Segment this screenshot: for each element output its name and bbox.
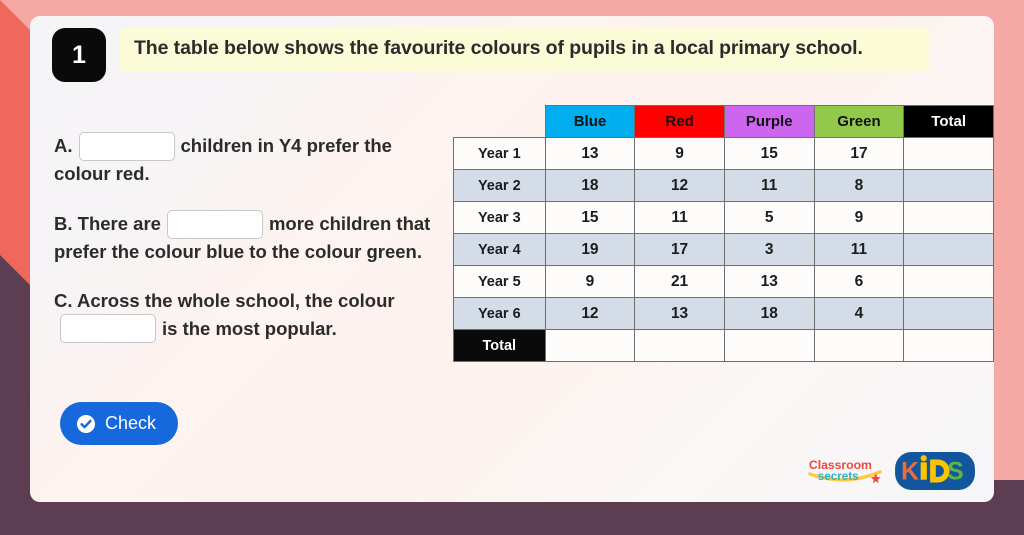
table-row: Year 3151159 — [454, 202, 994, 234]
table-row: Year 5921136 — [454, 266, 994, 298]
column-header-purple: Purple — [724, 106, 814, 138]
cell-year-2-red: 12 — [635, 170, 725, 202]
cell-year-3-total — [904, 202, 994, 234]
cell-year-6-total — [904, 298, 994, 330]
answer-input-a[interactable] — [79, 132, 175, 161]
column-header-total: Total — [904, 106, 994, 138]
table-row: Year 61213184 — [454, 298, 994, 330]
row-header-year-6: Year 6 — [454, 298, 546, 330]
row-header-year-4: Year 4 — [454, 234, 546, 266]
cell-year-6-green: 4 — [814, 298, 904, 330]
row-header-year-1: Year 1 — [454, 138, 546, 170]
table-row: Year 41917311 — [454, 234, 994, 266]
cell-total-total — [904, 330, 994, 362]
cell-year-1-total — [904, 138, 994, 170]
cell-total-red — [635, 330, 725, 362]
cell-year-2-purple: 11 — [724, 170, 814, 202]
kids-logo: K S — [894, 450, 976, 492]
cell-year-5-purple: 13 — [724, 266, 814, 298]
cell-year-4-purple: 3 — [724, 234, 814, 266]
cell-total-blue — [545, 330, 635, 362]
cell-total-green — [814, 330, 904, 362]
cell-year-3-purple: 5 — [724, 202, 814, 234]
cell-year-1-green: 17 — [814, 138, 904, 170]
question-c-suffix: is the most popular. — [162, 316, 337, 343]
favourite-colours-table: Blue Red Purple Green Total Year 1139151… — [453, 105, 994, 362]
question-c-prefix: C. Across the whole school, the colour — [54, 288, 395, 315]
question-a-prefix: A. — [54, 133, 73, 160]
question-number-badge: 1 — [52, 28, 106, 82]
check-button[interactable]: Check — [60, 402, 178, 445]
logo-group: Classroom secrets K S — [806, 450, 976, 492]
cell-year-2-total — [904, 170, 994, 202]
row-header-year-2: Year 2 — [454, 170, 546, 202]
cell-year-3-blue: 15 — [545, 202, 635, 234]
column-header-blue: Blue — [545, 106, 635, 138]
table-row: Year 11391517 — [454, 138, 994, 170]
svg-text:K: K — [901, 459, 919, 486]
cell-year-1-blue: 13 — [545, 138, 635, 170]
column-header-green: Green — [814, 106, 904, 138]
question-prompt-banner: The table below shows the favourite colo… — [120, 28, 930, 72]
cell-year-5-green: 6 — [814, 266, 904, 298]
question-b-prefix: B. There are — [54, 211, 161, 238]
cell-year-5-red: 21 — [635, 266, 725, 298]
cell-year-4-total — [904, 234, 994, 266]
svg-text:S: S — [947, 459, 963, 486]
cell-year-3-green: 9 — [814, 202, 904, 234]
cell-year-5-total — [904, 266, 994, 298]
cell-year-1-purple: 15 — [724, 138, 814, 170]
table-corner-cell — [454, 106, 546, 138]
cell-year-4-green: 11 — [814, 234, 904, 266]
row-header-year-3: Year 3 — [454, 202, 546, 234]
table-row: Total — [454, 330, 994, 362]
cell-year-3-red: 11 — [635, 202, 725, 234]
questions-column: A. children in Y4 prefer the colour red.… — [54, 132, 464, 363]
table-header-row: Blue Red Purple Green Total — [454, 106, 994, 138]
cell-total-purple — [724, 330, 814, 362]
table-row: Year 21812118 — [454, 170, 994, 202]
row-header-total: Total — [454, 330, 546, 362]
cell-year-2-blue: 18 — [545, 170, 635, 202]
question-b-suffix: more children that — [269, 211, 430, 238]
check-button-label: Check — [105, 413, 156, 434]
question-a: A. children in Y4 prefer the colour red. — [54, 132, 464, 188]
answer-input-c[interactable] — [60, 314, 156, 343]
cell-year-5-blue: 9 — [545, 266, 635, 298]
question-a-line2: colour red. — [54, 161, 150, 188]
column-header-red: Red — [635, 106, 725, 138]
worksheet-card: 1 The table below shows the favourite co… — [30, 16, 994, 502]
question-b-line2: prefer the colour blue to the colour gre… — [54, 239, 422, 266]
question-b: B. There are more children that prefer t… — [54, 210, 464, 266]
row-header-year-5: Year 5 — [454, 266, 546, 298]
question-c: C. Across the whole school, the colour i… — [54, 288, 464, 344]
page-frame: 1 The table below shows the favourite co… — [0, 0, 1024, 535]
question-header: 1 The table below shows the favourite co… — [52, 28, 930, 82]
svg-text:secrets: secrets — [818, 470, 859, 483]
table-body: Year 11391517Year 21812118Year 3151159Ye… — [454, 138, 994, 362]
answer-input-b[interactable] — [167, 210, 263, 239]
question-a-suffix: children in Y4 prefer the — [181, 133, 392, 160]
cell-year-2-green: 8 — [814, 170, 904, 202]
check-circle-icon — [76, 414, 96, 434]
cell-year-6-purple: 18 — [724, 298, 814, 330]
cell-year-4-red: 17 — [635, 234, 725, 266]
cell-year-6-red: 13 — [635, 298, 725, 330]
cell-year-6-blue: 12 — [545, 298, 635, 330]
classroom-secrets-logo: Classroom secrets — [806, 454, 884, 488]
cell-year-1-red: 9 — [635, 138, 725, 170]
favourite-colours-table-wrapper: Blue Red Purple Green Total Year 1139151… — [453, 105, 994, 362]
cell-year-4-blue: 19 — [545, 234, 635, 266]
